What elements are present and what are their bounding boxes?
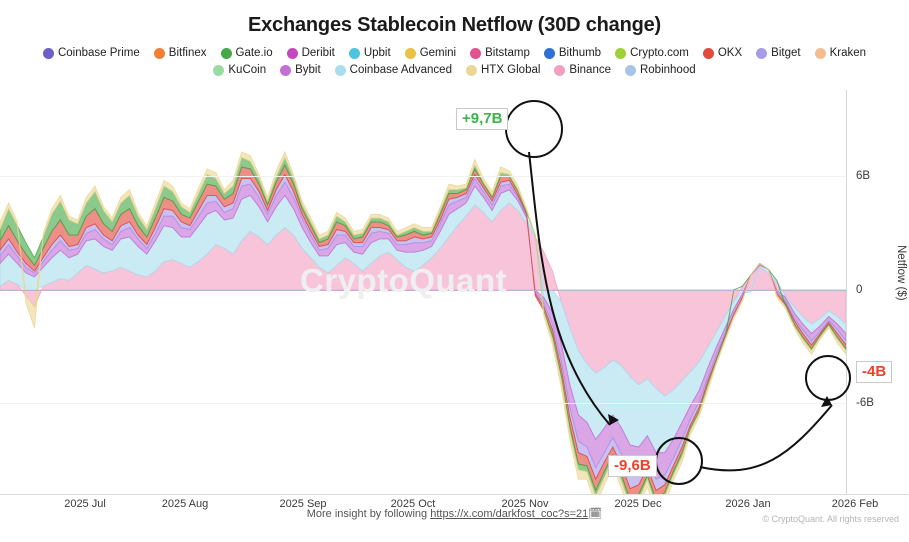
legend-item-deribit[interactable]: Deribit [287, 46, 335, 61]
legend-swatch-icon [280, 65, 291, 76]
legend-item-gate-io[interactable]: Gate.io [221, 46, 273, 61]
legend-label: Bybit [295, 63, 321, 78]
legend-label: Coinbase Advanced [350, 63, 452, 78]
y-axis-label: Netflow ($) [895, 245, 907, 301]
legend-item-upbit[interactable]: Upbit [349, 46, 391, 61]
legend-item-kucoin[interactable]: KuCoin [213, 63, 266, 78]
legend-item-crypto-com[interactable]: Crypto.com [615, 46, 689, 61]
legend-swatch-icon [213, 65, 224, 76]
legend-item-robinhood[interactable]: Robinhood [625, 63, 696, 78]
legend-label: Bitfinex [169, 46, 207, 61]
y-tick-0: 0 [856, 284, 862, 296]
legend-swatch-icon [466, 65, 477, 76]
gridline-neg6b [0, 403, 846, 404]
y-axis-line [846, 90, 847, 494]
legend-swatch-icon [154, 48, 165, 59]
highlight-circle-recent [805, 355, 851, 401]
annotation-trough-label: -9,6B [608, 455, 657, 477]
legend-swatch-icon [703, 48, 714, 59]
y-tick-6b: 6B [856, 170, 870, 182]
legend-item-coinbase-prime[interactable]: Coinbase Prime [43, 46, 140, 61]
calendar-icon: 🗓 [588, 508, 602, 520]
highlight-circle-trough [655, 437, 703, 485]
legend-label: Deribit [302, 46, 335, 61]
legend-label: KuCoin [228, 63, 266, 78]
legend-swatch-icon [554, 65, 565, 76]
legend-label: HTX Global [481, 63, 540, 78]
legend-label: Gate.io [236, 46, 273, 61]
legend-swatch-icon [470, 48, 481, 59]
legend-label: Bithumb [559, 46, 601, 61]
legend-item-bithumb[interactable]: Bithumb [544, 46, 601, 61]
legend-swatch-icon [221, 48, 232, 59]
legend-item-bitfinex[interactable]: Bitfinex [154, 46, 207, 61]
legend-label: Crypto.com [630, 46, 689, 61]
annotation-peak-label: +9,7B [456, 108, 508, 130]
legend-label: Upbit [364, 46, 391, 61]
legend-swatch-icon [615, 48, 626, 59]
legend-label: Coinbase Prime [58, 46, 140, 61]
highlight-circle-peak [505, 100, 563, 158]
legend-label: Gemini [420, 46, 456, 61]
legend-label: Bitget [771, 46, 800, 61]
legend-item-htx-global[interactable]: HTX Global [466, 63, 540, 78]
legend-item-okx[interactable]: OKX [703, 46, 742, 61]
legend-swatch-icon [405, 48, 416, 59]
legend-item-binance[interactable]: Binance [554, 63, 611, 78]
legend-label: Binance [569, 63, 611, 78]
watermark: CryptoQuant [300, 262, 507, 300]
legend-swatch-icon [287, 48, 298, 59]
x-axis-line [0, 494, 909, 495]
legend-item-bitget[interactable]: Bitget [756, 46, 800, 61]
footer-prefix: More insight by following [307, 508, 431, 520]
legend-swatch-icon [815, 48, 826, 59]
legend-swatch-icon [756, 48, 767, 59]
legend-swatch-icon [625, 65, 636, 76]
legend-item-bitstamp[interactable]: Bitstamp [470, 46, 530, 61]
legend-swatch-icon [335, 65, 346, 76]
annotation-recent-label: -4B [856, 361, 892, 383]
legend-swatch-icon [43, 48, 54, 59]
legend-item-gemini[interactable]: Gemini [405, 46, 456, 61]
legend-item-kraken[interactable]: Kraken [815, 46, 866, 61]
legend-item-bybit[interactable]: Bybit [280, 63, 321, 78]
legend-swatch-icon [544, 48, 555, 59]
copyright: © CryptoQuant. All rights reserved [762, 514, 899, 524]
legend-label: Bitstamp [485, 46, 530, 61]
legend-label: Kraken [830, 46, 866, 61]
footer-link[interactable]: https://x.com/darkfost_coc?s=21 [430, 508, 588, 520]
chart-legend: Coinbase PrimeBitfinexGate.ioDeribitUpbi… [0, 46, 909, 78]
y-tick-neg6b: -6B [856, 397, 874, 409]
page-title: Exchanges Stablecoin Netflow (30D change… [0, 14, 909, 37]
legend-label: OKX [718, 46, 742, 61]
legend-item-coinbase-advanced[interactable]: Coinbase Advanced [335, 63, 452, 78]
legend-label: Robinhood [640, 63, 696, 78]
legend-swatch-icon [349, 48, 360, 59]
gridline-6b [0, 176, 846, 177]
